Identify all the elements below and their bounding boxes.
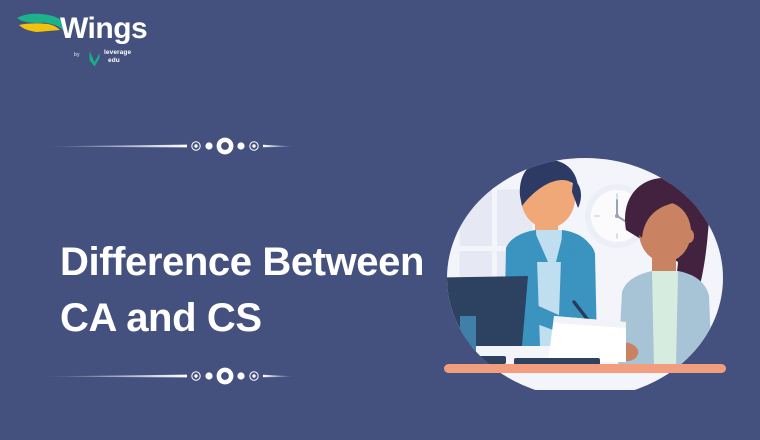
logo-subbrand: by leverage edu bbox=[74, 47, 194, 71]
decorative-divider-bottom bbox=[44, 363, 292, 389]
monitor-screen bbox=[430, 276, 528, 346]
page-title: Difference Between CA and CS bbox=[60, 234, 460, 346]
office-scene-illustration bbox=[430, 150, 740, 390]
logo-brand-name-line2: edu bbox=[104, 57, 131, 65]
page-title-line2: CA and CS bbox=[60, 290, 460, 346]
monitor-stand bbox=[460, 316, 476, 362]
logo-brand-name-line1: leverage bbox=[104, 49, 131, 56]
banner-canvas: Wings by leverage edu bbox=[0, 0, 760, 440]
keyboard bbox=[514, 358, 600, 365]
wings-logo[interactable]: Wings by leverage edu bbox=[16, 10, 196, 70]
logo-wordmark: Wings bbox=[60, 14, 147, 44]
leverage-edu-check-icon bbox=[88, 50, 101, 68]
desk-surface bbox=[444, 364, 726, 373]
page-title-line1: Difference Between bbox=[60, 234, 460, 290]
logo-brand-name: leverage edu bbox=[104, 49, 131, 65]
woman-top bbox=[652, 271, 678, 368]
logo-by-label: by bbox=[74, 52, 80, 58]
decorative-divider-top bbox=[44, 133, 292, 159]
monitor-base bbox=[432, 356, 506, 364]
